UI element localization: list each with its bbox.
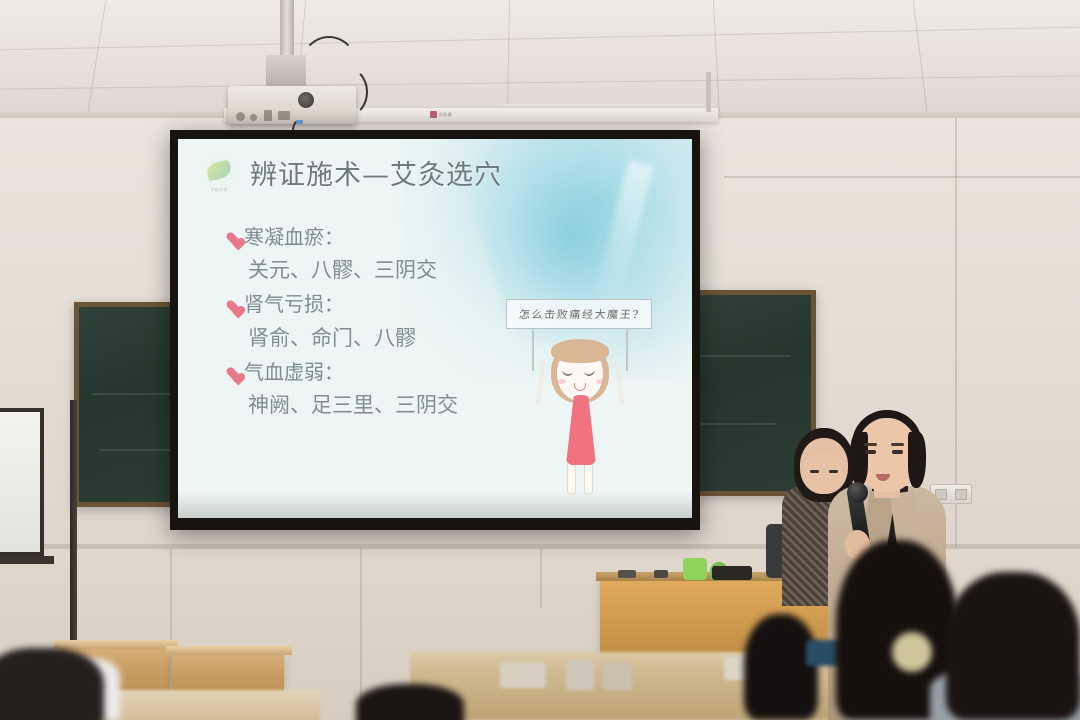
desk-item-paper [500, 662, 546, 688]
speaker-eye [892, 450, 903, 454]
bullet-heading: 肾气亏损： [244, 288, 344, 320]
ceiling [0, 0, 1080, 118]
slide-title: 辨证施术—艾灸选穴 [250, 153, 502, 192]
speaker-hair-side [850, 432, 868, 486]
bullet-heading-row: 气血虚弱： [226, 356, 526, 388]
brand-text: 投影幕 [439, 112, 452, 118]
assistant-eye [829, 470, 838, 473]
desk-item-dark-object [712, 566, 752, 580]
bullet-detail: 肾俞、命门、八髎 [226, 321, 526, 355]
bullet-block: 气血虚弱： 神阙、足三里、三阴交 [226, 356, 526, 422]
presentation-slide: 中医护理 辨证施术—艾灸选穴 寒凝血瘀： 关元、八髎、三阴交 肾气亏损： [178, 139, 692, 518]
cartoon-dress [566, 395, 596, 465]
cartoon-cheek [558, 379, 566, 384]
projector-lens [298, 92, 314, 108]
projector-cable [322, 66, 368, 118]
bullet-heading-row: 肾气亏损： [226, 288, 526, 320]
slide-bottom-shadow [178, 492, 692, 518]
foreground-student [356, 684, 464, 720]
bullet-heading: 气血虚弱： [244, 356, 344, 388]
speaker-eyebrow [864, 443, 877, 446]
heart-bullet-icon [226, 299, 241, 313]
brand-mark-icon [430, 111, 437, 118]
assistant-face [804, 452, 842, 494]
logo-caption: 中医护理 [202, 187, 236, 193]
assistant-eye [810, 470, 819, 473]
bullet-heading: 寒凝血瘀： [244, 221, 344, 253]
speaker-hair-side [908, 432, 926, 488]
sign-post [626, 329, 628, 371]
cartoon-fringe [551, 339, 609, 363]
projector-mount-rod [280, 0, 294, 58]
cartoon-sign-text: 怎么击败痛经大魔王? [518, 306, 641, 321]
desk-item-green-bottle [683, 558, 707, 580]
foreground-student [0, 648, 104, 720]
bullet-heading-row: 寒凝血瘀： [226, 221, 526, 253]
student-desk-top [166, 646, 292, 655]
slide-bullet-list: 寒凝血瘀： 关元、八髎、三阴交 肾气亏损： 肾俞、命门、八髎 气血虚弱： [226, 221, 526, 423]
microphone-icon [847, 482, 868, 503]
wall-seam [724, 176, 1080, 178]
desk-item-small-object [654, 570, 668, 578]
projection-screen: 中医护理 辨证施术—艾灸选穴 寒凝血瘀： 关元、八髎、三阴交 肾气亏损： [170, 130, 700, 530]
foreground-student-hair-bun [892, 632, 932, 672]
classroom-scene: 投影幕 中医 [0, 0, 1080, 720]
cartoon-girl-with-sign: 怎么击败痛经大魔王? [500, 299, 660, 489]
sign-post [532, 329, 534, 371]
bullet-block: 寒凝血瘀： 关元、八髎、三阴交 [226, 221, 526, 287]
outlet-socket [955, 489, 967, 500]
heart-bullet-icon [226, 366, 241, 380]
cartoon-arm [615, 361, 624, 405]
slide-logo: 中医护理 [200, 153, 238, 197]
foreground-student [744, 614, 818, 720]
speaker-eyebrow [891, 443, 904, 446]
bullet-detail: 关元、八髎、三阴交 [226, 253, 526, 287]
whiteboard [0, 408, 44, 556]
cartoon-sign: 怎么击败痛经大魔王? [506, 299, 652, 329]
bullet-detail: 神阙、足三里、三阴交 [226, 388, 526, 422]
cartoon-cheek [596, 379, 604, 384]
student-desk-top [54, 640, 178, 649]
desk-item-paper [602, 662, 632, 690]
desk-item-small-object [618, 570, 636, 578]
heart-bullet-icon [226, 231, 241, 245]
bullet-block: 肾气亏损： 肾俞、命门、八髎 [226, 288, 526, 354]
wall-seam [540, 548, 542, 608]
desk-item-paper [566, 660, 594, 690]
cartoon-arm [536, 361, 545, 405]
foreground-student [946, 572, 1080, 720]
whiteboard-tray [0, 556, 54, 564]
screen-bracket [706, 72, 711, 112]
speaker-eye [865, 450, 876, 454]
housing-brand-logo: 投影幕 [430, 110, 488, 119]
